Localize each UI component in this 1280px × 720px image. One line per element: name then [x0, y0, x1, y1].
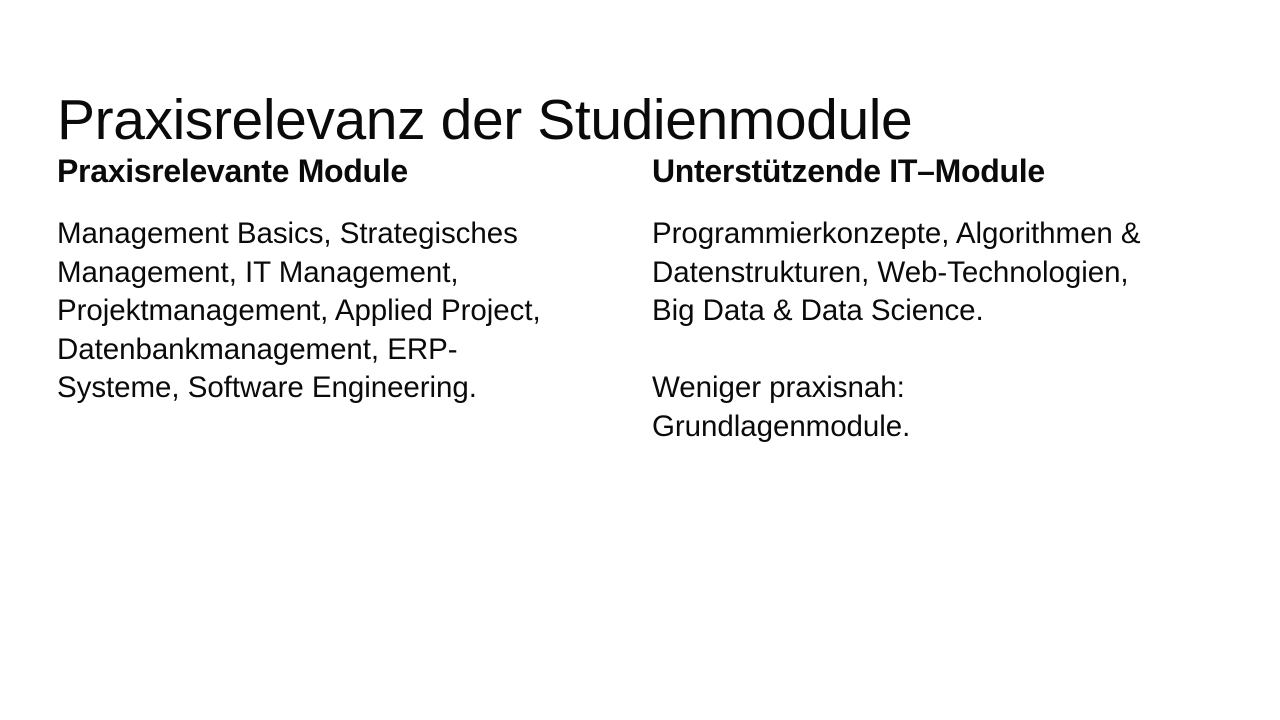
- column-heading-left: Praxisrelevante Module: [57, 152, 562, 191]
- page-title: Praxisrelevanz der Studienmodule: [57, 90, 1223, 150]
- column-paragraph-left-1: Management Basics, Strategisches Managem…: [57, 215, 562, 408]
- presentation-slide: Praxisrelevanz der Studienmodule Praxisr…: [0, 0, 1280, 720]
- column-paragraph-right-1: Programmierkonzepte, Algorithmen & Daten…: [652, 215, 1157, 331]
- column-heading-right: Unterstützende IT–Module: [652, 152, 1157, 191]
- column-paragraph-right-2: Weniger praxisnah: Grundlagenmodule.: [652, 369, 1157, 446]
- column-unterstuetzende-it-module: Unterstützende IT–Module Programmierkonz…: [652, 152, 1157, 447]
- content-columns: Praxisrelevante Module Management Basics…: [57, 152, 1227, 447]
- column-praxisrelevante-module: Praxisrelevante Module Management Basics…: [57, 152, 562, 408]
